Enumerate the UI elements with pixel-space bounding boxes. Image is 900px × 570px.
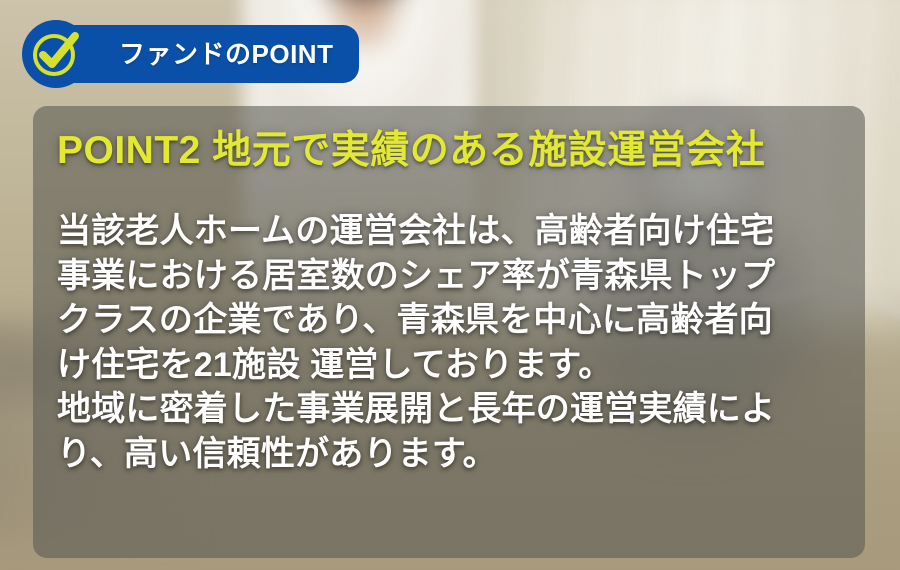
body-line: 事業における居室数のシェア率が青森県トップ [57,254,841,299]
point-body: 当該老人ホームの運営会社は、高齢者向け住宅 事業における居室数のシェア率が青森県… [57,209,841,476]
fund-point-badge: ファンドのPOINT [57,25,359,83]
point-content: POINT2 地元で実績のある施設運営会社 当該老人ホームの運営会社は、高齢者向… [33,106,865,558]
check-circle-icon [30,28,82,80]
body-line: り、高い信頼性があります。 [57,432,841,477]
body-line: 当該老人ホームの運営会社は、高齢者向け住宅 [57,209,841,254]
point-heading: POINT2 地元で実績のある施設運営会社 [57,128,841,173]
body-line: クラスの企業であり、青森県を中心に高齢者向 [57,298,841,343]
background-caregiver-hair [306,0,423,6]
body-line: 地域に密着した事業展開と長年の運営実績によ [57,387,841,432]
point-slide: ファンドのPOINT POINT2 地元で実績のある施設運営会社 当該老人ホーム… [0,0,900,570]
fund-point-badge-label: ファンドのPOINT [119,41,333,67]
body-line: け住宅を21施設 運営しております。 [57,343,841,388]
